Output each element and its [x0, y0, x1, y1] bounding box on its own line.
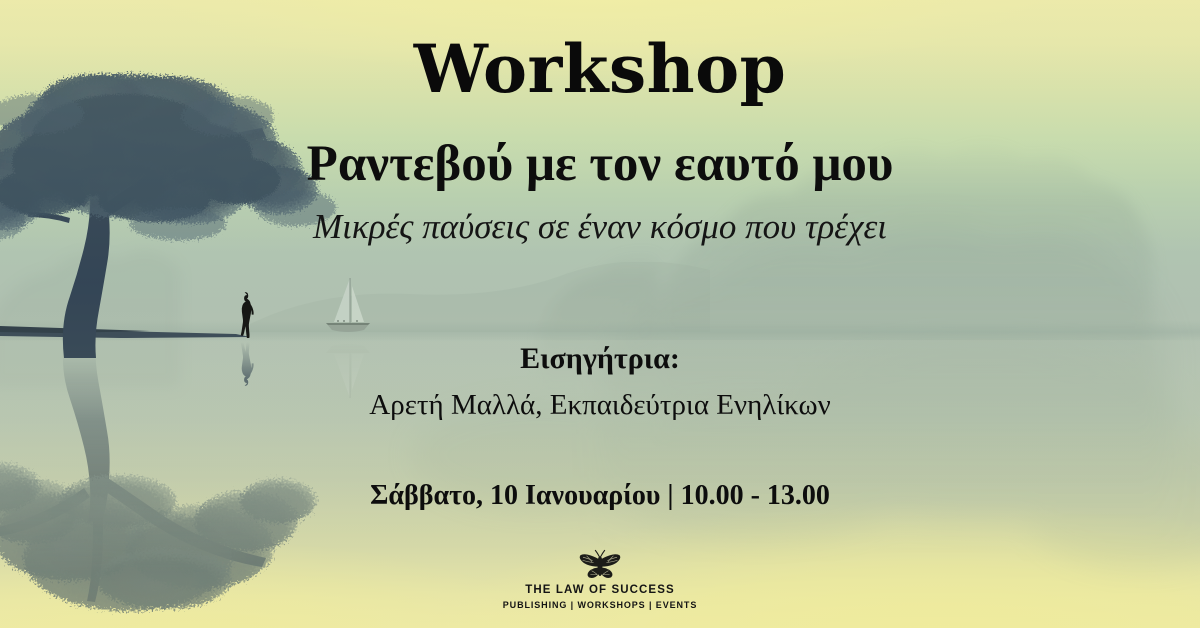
speaker-name: Αρετή Μαλλά, Εκπαιδεύτρια Ενηλίκων [0, 389, 1200, 422]
poster-title: Ραντεβού με τον εαυτό μου [0, 138, 1200, 192]
kicker-workshop: Workshop [0, 36, 1200, 102]
brand-logo: THE LAW OF SUCCESS PUBLISHING | WORKSHOP… [0, 548, 1200, 610]
poster-subtitle: Μικρές παύσεις σε έναν κόσμο που τρέχει [0, 208, 1200, 247]
event-datetime: Σάββατο, 10 Ιανουαρίου | 10.00 - 13.00 [0, 480, 1200, 512]
poster-text-layer: Workshop Ραντεβού με τον εαυτό μου Μικρέ… [0, 0, 1200, 628]
logo-brand-name: THE LAW OF SUCCESS [525, 584, 675, 596]
speaker-label: Εισηγήτρια: [0, 342, 1200, 376]
logo-tagline: PUBLISHING | WORKSHOPS | EVENTS [503, 600, 697, 610]
moth-icon [573, 548, 627, 580]
workshop-poster: Workshop Ραντεβού με τον εαυτό μου Μικρέ… [0, 0, 1200, 628]
